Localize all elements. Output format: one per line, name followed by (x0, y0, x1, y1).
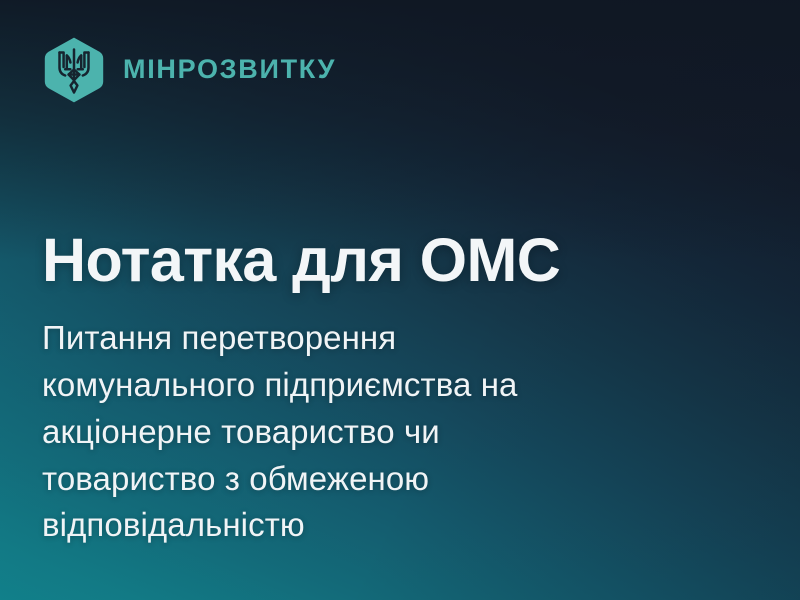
subtitle-line: Питання перетворення (42, 315, 682, 362)
brand-wordmark: МІНРОЗВИТКУ (123, 56, 336, 85)
subtitle-line: товариство з обмеженою (42, 456, 682, 503)
subtitle-line: акціонерне товариство чи (42, 409, 682, 456)
headline-block: Нотатка для ОМС Питання перетворення ком… (42, 228, 722, 549)
subtitle-line: відповідальністю (42, 502, 682, 549)
slide-canvas: МІНРОЗВИТКУ Нотатка для ОМС Питання пере… (0, 0, 800, 600)
tryzub-hexagon-icon (42, 36, 106, 104)
page-title: Нотатка для ОМС (42, 228, 722, 292)
brand-logo-lockup: МІНРОЗВИТКУ (42, 36, 336, 104)
subtitle-line: комунального підприємства на (42, 362, 682, 409)
page-subtitle: Питання перетворення комунального підпри… (42, 292, 682, 549)
